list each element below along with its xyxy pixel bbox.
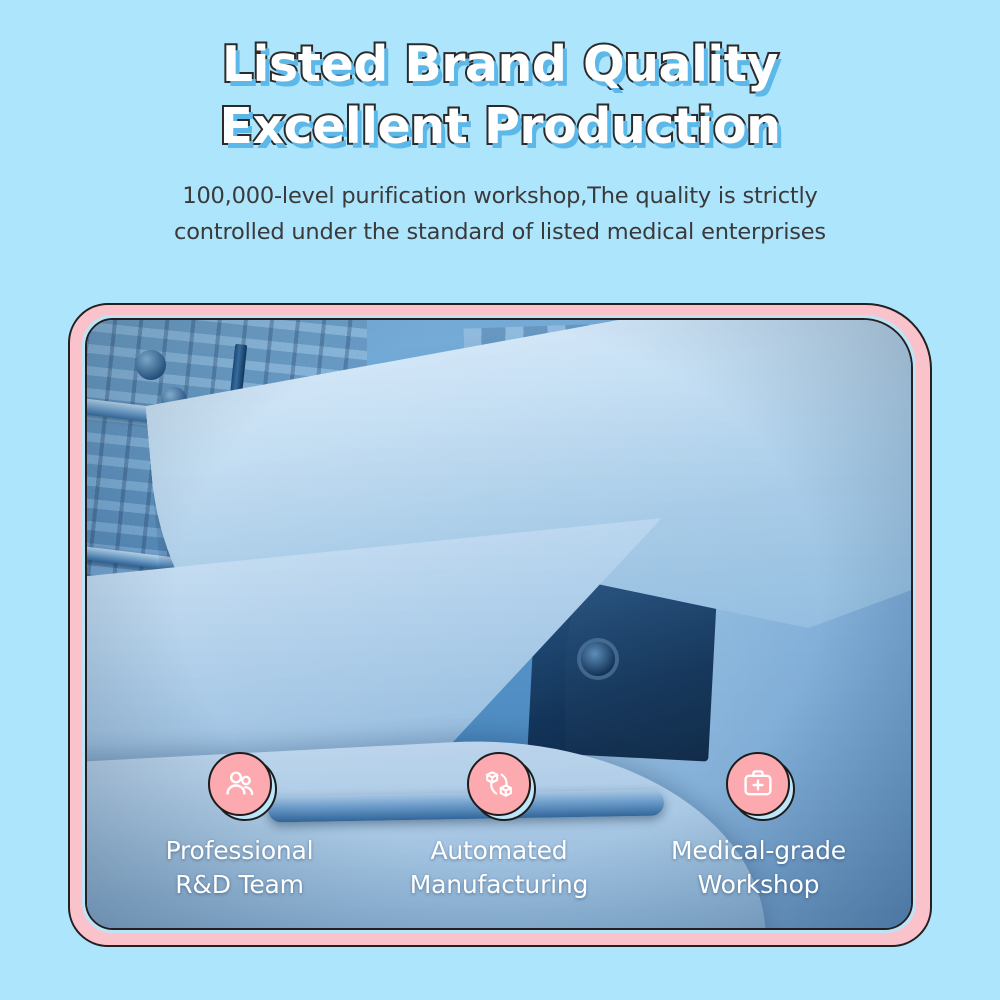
feature-label-line-1: Medical-grade: [671, 836, 846, 865]
feature-item-medical-grade-workshop[interactable]: Medical-grade Workshop: [631, 752, 887, 902]
feature-label: Automated Manufacturing: [410, 834, 588, 902]
page-subtitle: 100,000-level purification workshop,The …: [0, 178, 1000, 250]
feature-list: Professional R&D Team: [112, 752, 887, 902]
header-block: Listed Brand Quality Excellent Productio…: [0, 0, 1000, 250]
feature-item-automated-manufacturing[interactable]: Automated Manufacturing: [371, 752, 627, 902]
headline-line-1: Listed Brand Quality: [0, 34, 1000, 96]
factory-photo: Professional R&D Team: [85, 318, 913, 930]
feature-label-line-1: Professional: [166, 836, 314, 865]
feature-badge: [726, 752, 790, 816]
people-team-icon: [222, 766, 258, 802]
photo-frame-inner-edge: Professional R&D Team: [82, 315, 916, 933]
subtitle-line-1: 100,000-level purification workshop,The …: [0, 178, 1000, 214]
feature-label: Professional R&D Team: [166, 834, 314, 902]
automation-boxes-cycle-icon: [481, 766, 517, 802]
feature-item-professional-rd-team[interactable]: Professional R&D Team: [112, 752, 368, 902]
feature-label: Medical-grade Workshop: [671, 834, 846, 902]
badge-disc: [467, 752, 531, 816]
headline-line-2: Excellent Production: [0, 96, 1000, 158]
feature-badge: [467, 752, 531, 816]
feature-badge: [208, 752, 272, 816]
feature-label-line-2: Workshop: [671, 868, 846, 902]
page-title: Listed Brand Quality Excellent Productio…: [0, 34, 1000, 158]
feature-label-line-2: Manufacturing: [410, 868, 588, 902]
feature-label-line-1: Automated: [431, 836, 568, 865]
feature-label-line-2: R&D Team: [166, 868, 314, 902]
photo-frame: Professional R&D Team: [68, 303, 932, 947]
badge-disc: [208, 752, 272, 816]
subtitle-line-2: controlled under the standard of listed …: [0, 214, 1000, 250]
medical-kit-icon: [741, 767, 775, 801]
